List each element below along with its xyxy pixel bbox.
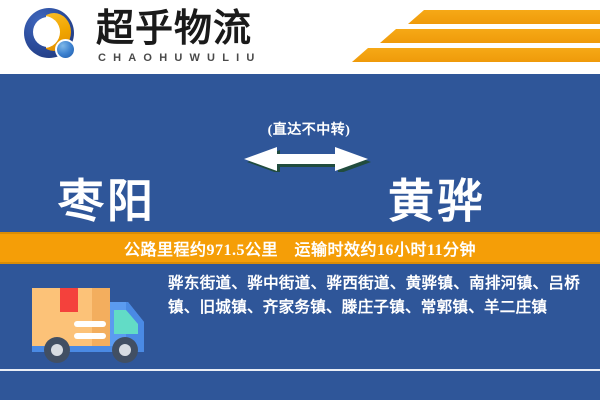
coverage-section: 骅东街道、骅中街道、骅西街道、黄骅镇、南排河镇、吕桥镇、旧城镇、齐家务镇、滕庄子… <box>0 264 600 400</box>
banner-header: 超乎物流 CHAOHUWULIU <box>0 0 600 74</box>
route-section: 枣阳 (直达不中转) 【往返运输】 黄骅 <box>0 74 600 232</box>
route-note-direct: (直达不中转) <box>244 122 374 140</box>
brand-name-en: CHAOHUWULIU <box>96 51 262 65</box>
coverage-areas-text: 骅东街道、骅中街道、骅西街道、黄骅镇、南排河镇、吕桥镇、旧城镇、齐家务镇、滕庄子… <box>168 272 580 320</box>
route-center-block: (直达不中转) 【往返运输】 <box>244 122 374 172</box>
chaohu-logistics-circle-logo-icon <box>22 6 84 68</box>
logistics-route-banner: 超乎物流 CHAOHUWULIU 枣阳 (直达不中转) 【往返运输】 <box>0 0 600 400</box>
route-info-bar: 公路里程约971.5公里 运输时效约16小时11分钟 <box>0 232 600 264</box>
double-headed-arrow-icon <box>244 146 374 172</box>
delivery-truck-icon <box>24 274 152 366</box>
logo-small-dot <box>55 39 76 60</box>
brand-logo-block: 超乎物流 CHAOHUWULIU <box>22 6 262 68</box>
brand-text-block: 超乎物流 CHAOHUWULIU <box>96 6 262 65</box>
route-info-text: 公路里程约971.5公里 运输时效约16小时11分钟 <box>124 236 476 260</box>
bottom-divider <box>0 369 600 371</box>
coverage-areas-block: 骅东街道、骅中街道、骅西街道、黄骅镇、南排河镇、吕桥镇、旧城镇、齐家务镇、滕庄子… <box>168 272 580 320</box>
origin-city-label: 枣阳 <box>58 165 156 231</box>
stripe-1 <box>408 10 600 24</box>
brand-name-cn: 超乎物流 <box>96 7 262 51</box>
stripe-3 <box>352 48 600 62</box>
destination-city-label: 黄骅 <box>388 165 486 231</box>
header-stripes-decoration <box>340 8 600 68</box>
stripe-2 <box>380 29 600 43</box>
